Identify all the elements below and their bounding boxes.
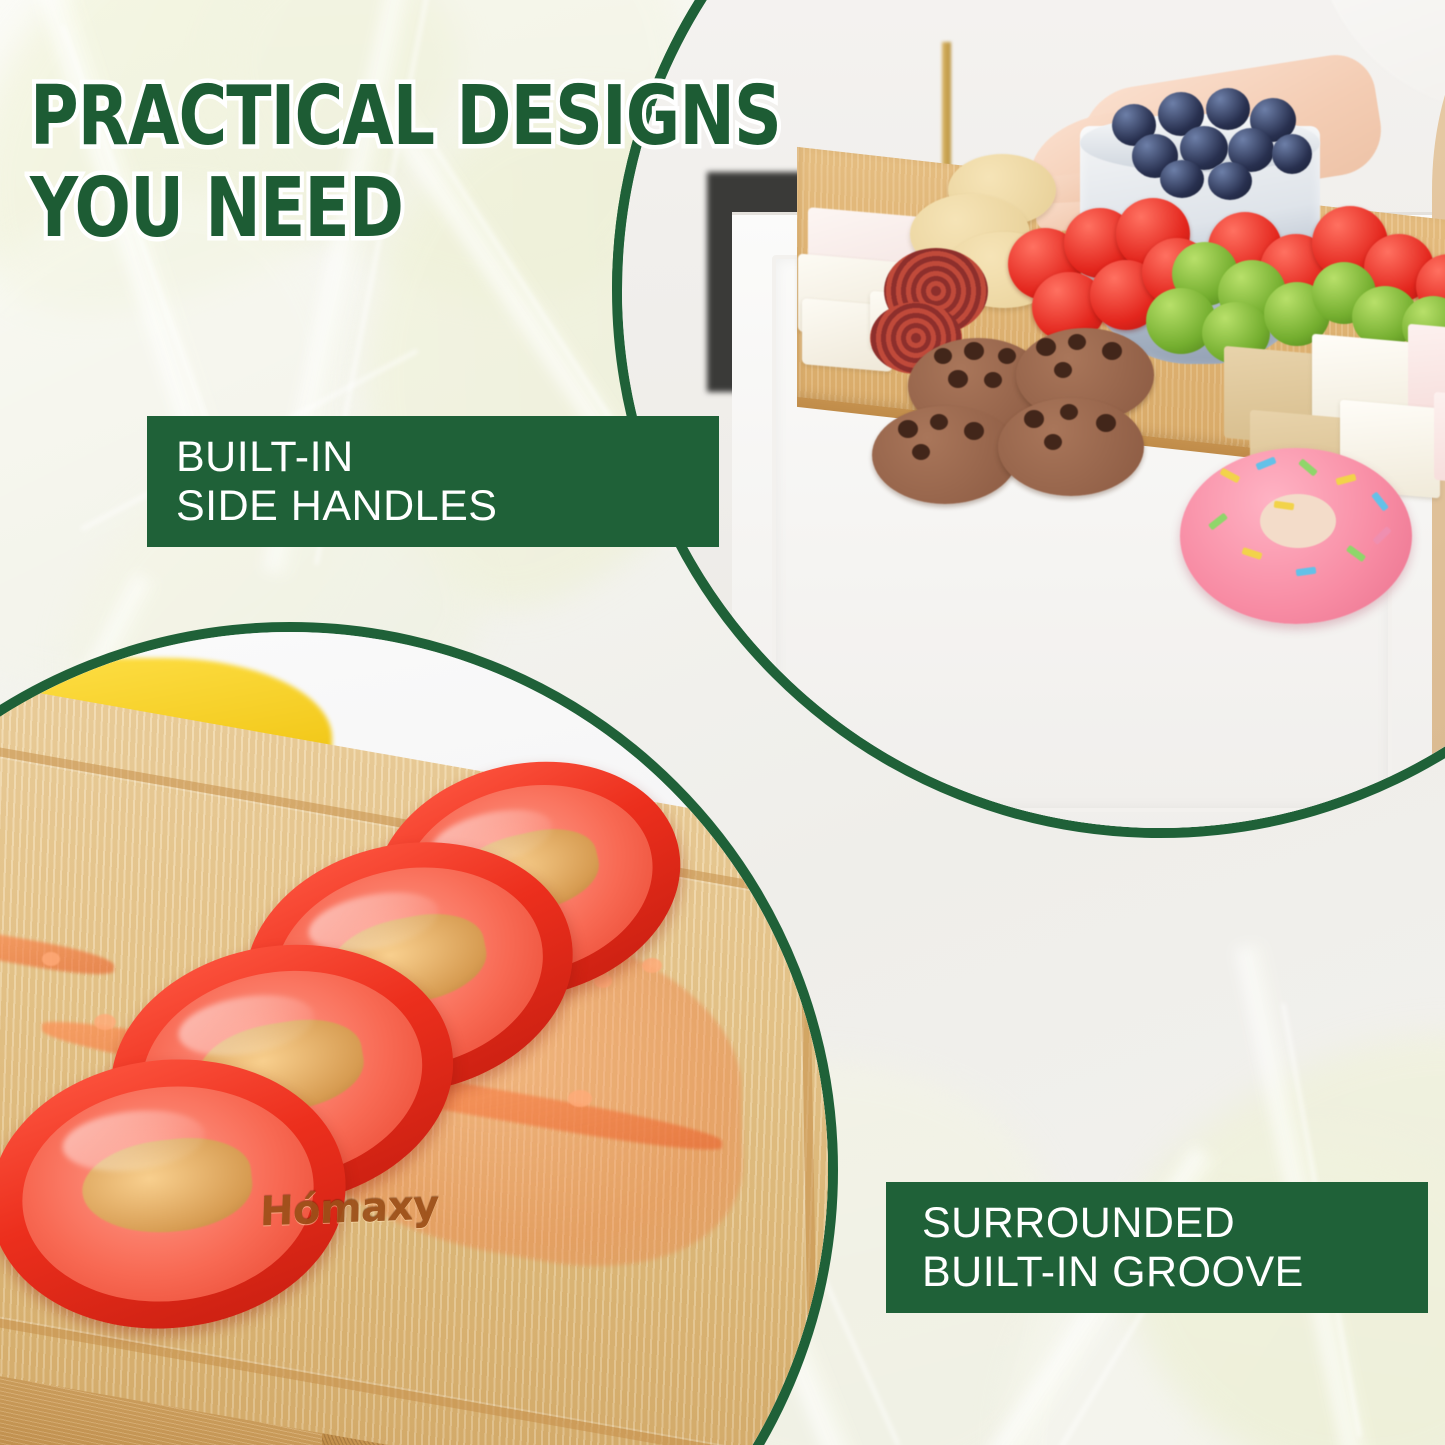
chocolate-chip xyxy=(948,370,968,388)
photo-panel-built-in-groove xyxy=(0,622,838,1445)
chocolate-chip xyxy=(934,348,952,364)
brand-logo-burn-mark: Hómaxy xyxy=(259,1183,439,1236)
chocolate-chip xyxy=(1044,434,1062,450)
infographic-canvas: Hómaxy PRACTICAL DESIGNS YOU NEED BUILT-… xyxy=(0,0,1445,1445)
feature-label-line-1: SURROUNDED xyxy=(922,1199,1428,1247)
chocolate-chip xyxy=(1060,404,1078,420)
feature-label-built-in-groove: SURROUNDED BUILT-IN GROOVE xyxy=(886,1182,1428,1313)
chocolate-chip xyxy=(1024,410,1044,428)
photo-tomatoes-on-cutting-board xyxy=(0,622,838,1445)
chocolate-chip xyxy=(898,420,918,438)
juice-droplet xyxy=(42,952,60,966)
chocolate-chip xyxy=(1036,338,1056,356)
juice-droplet xyxy=(568,1090,592,1107)
feature-label-line-2: BUILT-IN GROOVE xyxy=(922,1248,1428,1296)
headline-line-1: PRACTICAL DESIGNS xyxy=(30,78,741,156)
chocolate-chip xyxy=(984,372,1002,388)
chocolate-chip xyxy=(912,444,930,460)
page-title: PRACTICAL DESIGNS YOU NEED xyxy=(30,78,820,248)
chocolate-chip xyxy=(1102,342,1122,360)
chocolate-chip xyxy=(1054,362,1072,378)
donut-hole xyxy=(1260,494,1336,548)
chocolate-chip xyxy=(1068,334,1086,350)
chocolate-chip xyxy=(1096,414,1116,432)
chocolate-chip xyxy=(964,422,984,440)
feature-label-line-2: SIDE HANDLES xyxy=(176,482,719,530)
feature-label-side-handles: BUILT-IN SIDE HANDLES xyxy=(147,416,719,547)
food-cake-square xyxy=(1434,392,1445,488)
feature-label-line-1: BUILT-IN xyxy=(176,433,719,481)
chocolate-chip xyxy=(998,348,1016,364)
chocolate-chip xyxy=(964,342,984,360)
chocolate-chip xyxy=(930,414,948,430)
headline-line-2: YOU NEED xyxy=(30,170,741,248)
